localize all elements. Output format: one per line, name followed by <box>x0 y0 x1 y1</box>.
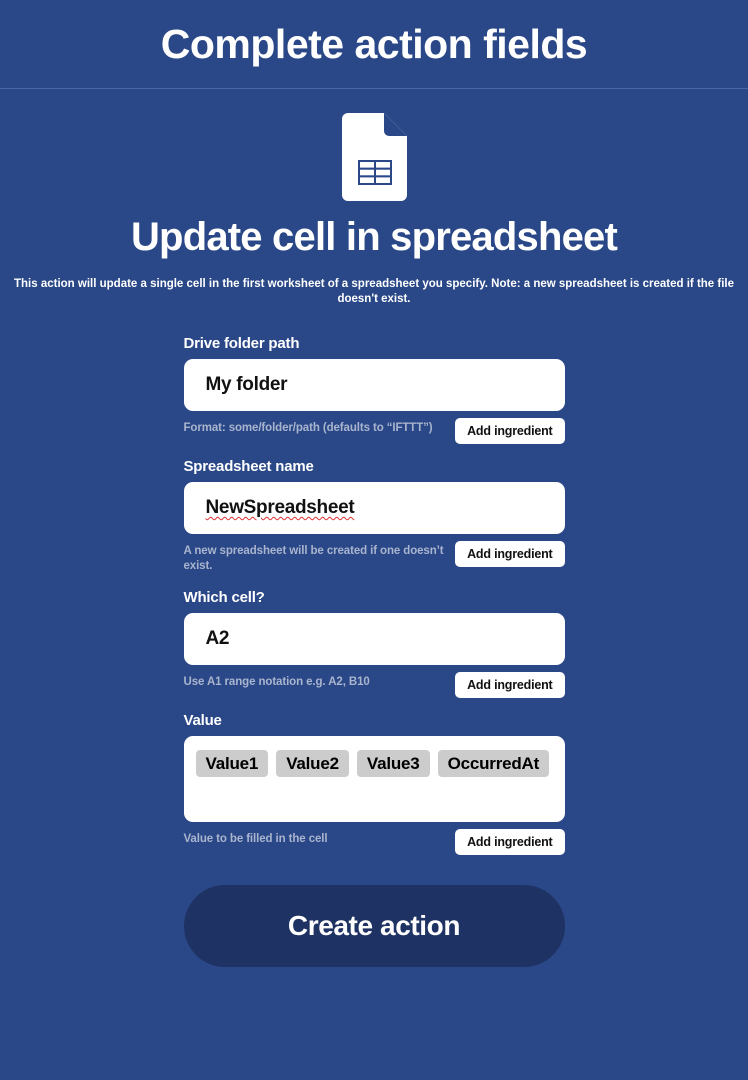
service-icon-container <box>0 113 748 201</box>
create-action-button[interactable]: Create action <box>184 885 565 967</box>
field-value: A2 <box>206 628 230 650</box>
field-footer: A new spreadsheet will be created if one… <box>184 541 565 575</box>
add-ingredient-button[interactable]: Add ingredient <box>455 829 564 855</box>
ingredient-token[interactable]: Value1 <box>196 750 269 777</box>
field-spreadsheet-name: Spreadsheet name NewSpreadsheet A new sp… <box>184 458 565 575</box>
add-ingredient-button[interactable]: Add ingredient <box>455 418 564 444</box>
app-header: Complete action fields <box>0 0 748 89</box>
spreadsheet-name-input[interactable]: NewSpreadsheet <box>184 482 565 534</box>
field-drive-folder-path: Drive folder path My folder Format: some… <box>184 335 565 444</box>
field-value: Value Value1Value2Value3OccurredAt Value… <box>184 712 565 855</box>
action-fields-form: Drive folder path My folder Format: some… <box>184 335 565 855</box>
value-textarea[interactable]: Value1Value2Value3OccurredAt <box>184 736 565 822</box>
field-label: Which cell? <box>184 589 565 606</box>
field-footer: Use A1 range notation e.g. A2, B10 Add i… <box>184 672 565 698</box>
page-title: Complete action fields <box>161 24 587 65</box>
add-ingredient-button[interactable]: Add ingredient <box>455 672 564 698</box>
action-fields-page: Update cell in spreadsheet This action w… <box>0 89 748 967</box>
ingredient-token[interactable]: OccurredAt <box>438 750 550 777</box>
field-label: Spreadsheet name <box>184 458 565 475</box>
spreadsheet-document-icon <box>342 113 407 201</box>
which-cell-input[interactable]: A2 <box>184 613 565 665</box>
field-help-text: Value to be filled in the cell <box>184 829 446 848</box>
field-which-cell: Which cell? A2 Use A1 range notation e.g… <box>184 589 565 698</box>
add-ingredient-button[interactable]: Add ingredient <box>455 541 564 567</box>
submit-container: Create action <box>184 885 565 967</box>
field-label: Value <box>184 712 565 729</box>
action-title: Update cell in spreadsheet <box>0 215 748 259</box>
field-footer: Format: some/folder/path (defaults to “I… <box>184 418 565 444</box>
field-footer: Value to be filled in the cell Add ingre… <box>184 829 565 855</box>
ingredient-token[interactable]: Value2 <box>276 750 349 777</box>
field-label: Drive folder path <box>184 335 565 352</box>
action-description: This action will update a single cell in… <box>0 277 748 307</box>
field-help-text: A new spreadsheet will be created if one… <box>184 541 446 575</box>
ingredient-token[interactable]: Value3 <box>357 750 430 777</box>
field-value: NewSpreadsheet <box>206 497 355 519</box>
field-help-text: Use A1 range notation e.g. A2, B10 <box>184 672 446 691</box>
field-help-text: Format: some/folder/path (defaults to “I… <box>184 418 446 437</box>
field-value: My folder <box>206 374 288 396</box>
drive-folder-path-input[interactable]: My folder <box>184 359 565 411</box>
